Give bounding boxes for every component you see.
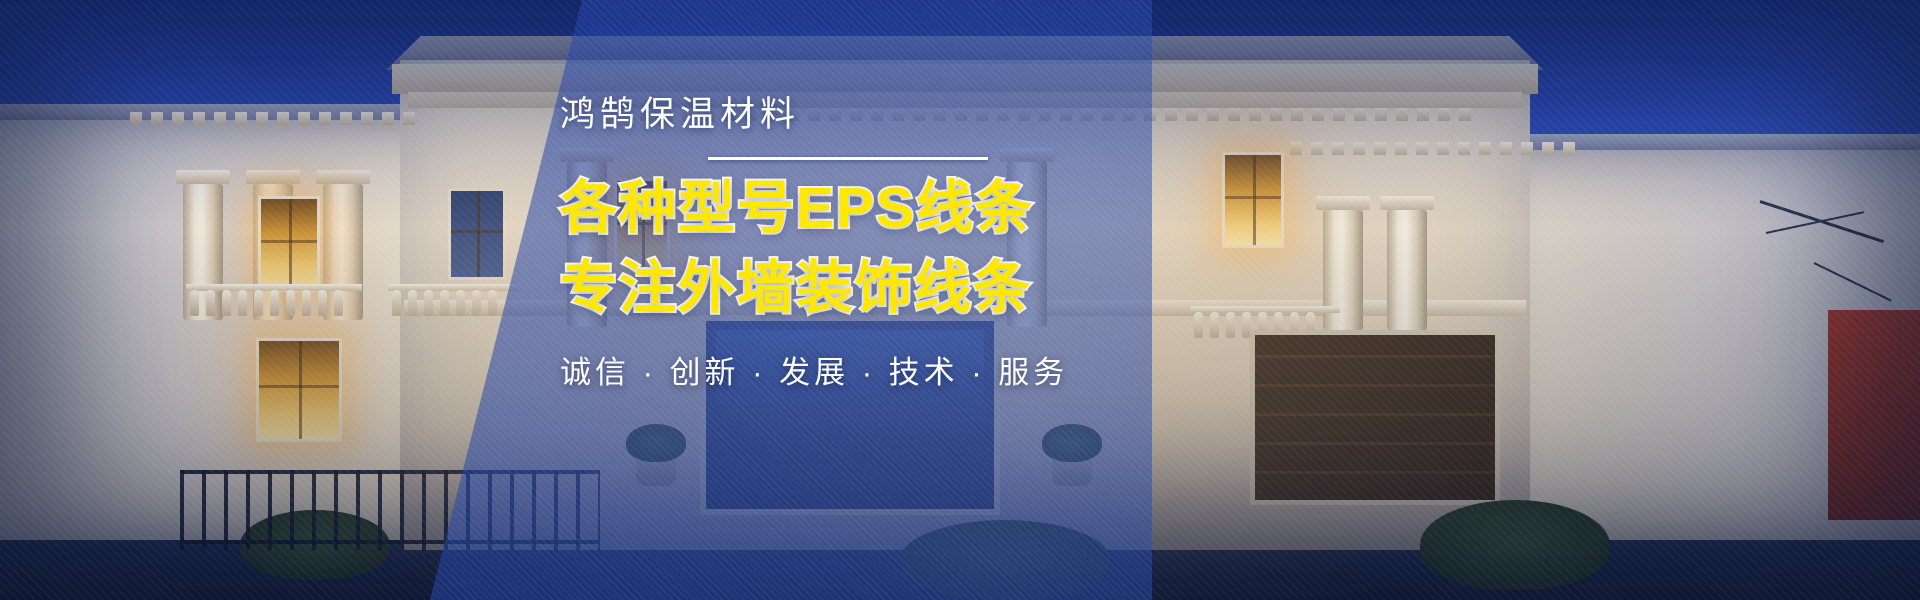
banner-copy: 鸿鹄保温材料 各种型号EPS线条 专注外墙装饰线条 诚信 · 创新 · 发展 ·… xyxy=(560,96,1200,392)
tagline: 诚信 · 创新 · 发展 · 技术 · 服务 xyxy=(560,347,1200,392)
headline-line-1: 各种型号EPS线条 xyxy=(560,176,1200,241)
divider-line xyxy=(708,157,988,160)
brand-name: 鸿鹄保温材料 xyxy=(560,96,1200,135)
headline-line-2: 专注外墙装饰线条 xyxy=(560,256,1200,321)
promo-banner: 鸿鹄保温材料 各种型号EPS线条 专注外墙装饰线条 诚信 · 创新 · 发展 ·… xyxy=(0,0,1920,600)
